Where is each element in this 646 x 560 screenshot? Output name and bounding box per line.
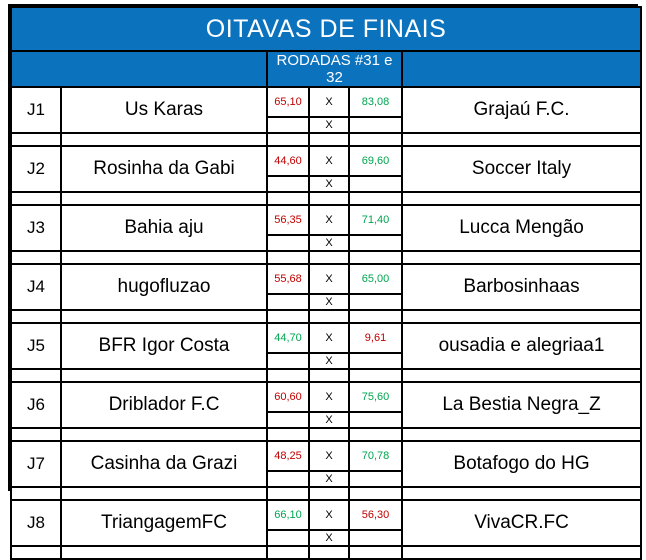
- home-score: 55,68: [267, 264, 309, 294]
- spacer-cell: [61, 428, 267, 441]
- home-score: 44,60: [267, 146, 309, 176]
- bracket-body: OITAVAS DE FINAIS RODADAS #31 e 32 J1Us …: [11, 7, 641, 559]
- spacer-cell: [11, 369, 61, 382]
- spacer-row: [11, 192, 641, 205]
- away-team-name: Grajaú F.C.: [402, 87, 641, 133]
- match-code: J1: [11, 87, 61, 133]
- versus-separator-second-leg: X: [309, 176, 349, 192]
- spacer-cell: [267, 251, 309, 264]
- away-score: 69,60: [349, 146, 402, 176]
- home-team-name: Bahia aju: [61, 205, 267, 251]
- home-score: 44,70: [267, 323, 309, 353]
- home-team-name: Casinha da Grazi: [61, 441, 267, 487]
- away-team-name: Botafogo do HG: [402, 441, 641, 487]
- spacer-cell: [309, 192, 349, 205]
- knockout-bracket-table: OITAVAS DE FINAIS RODADAS #31 e 32 J1Us …: [10, 6, 642, 560]
- spacer-row: [11, 133, 641, 146]
- match-row: J7Casinha da Grazi48,25X70,78Botafogo do…: [11, 441, 641, 471]
- spacer-cell: [11, 310, 61, 323]
- subheader-row: RODADAS #31 e 32: [11, 51, 641, 87]
- spacer-cell: [349, 310, 402, 323]
- home-score-second-leg: [267, 235, 309, 251]
- title-row: OITAVAS DE FINAIS: [11, 7, 641, 51]
- away-team-name: Barbosinhaas: [402, 264, 641, 310]
- match-row: J5BFR Igor Costa44,70X9,61ousadia e aleg…: [11, 323, 641, 353]
- spacer-cell: [11, 546, 61, 559]
- spacer-cell: [267, 487, 309, 500]
- away-score: 9,61: [349, 323, 402, 353]
- spacer-cell: [402, 251, 641, 264]
- match-code: J2: [11, 146, 61, 192]
- spacer-cell: [402, 310, 641, 323]
- home-score: 66,10: [267, 500, 309, 530]
- spacer-cell: [267, 369, 309, 382]
- away-score-second-leg: [349, 117, 402, 133]
- spacer-cell: [349, 369, 402, 382]
- versus-separator: X: [309, 264, 349, 294]
- spacer-cell: [309, 133, 349, 146]
- spacer-cell: [61, 546, 267, 559]
- versus-separator-second-leg: X: [309, 471, 349, 487]
- match-row: J3Bahia aju56,35X71,40Lucca Mengão: [11, 205, 641, 235]
- versus-separator-second-leg: X: [309, 117, 349, 133]
- home-score-second-leg: [267, 294, 309, 310]
- match-code: J6: [11, 382, 61, 428]
- home-team-name: BFR Igor Costa: [61, 323, 267, 369]
- round-label: RODADAS #31 e 32: [267, 51, 402, 87]
- spacer-cell: [11, 192, 61, 205]
- away-score-second-leg: [349, 235, 402, 251]
- spacer-cell: [309, 369, 349, 382]
- spacer-cell: [349, 251, 402, 264]
- versus-separator: X: [309, 323, 349, 353]
- match-row: J4hugofluzao55,68X65,00Barbosinhaas: [11, 264, 641, 294]
- spacer-cell: [267, 428, 309, 441]
- spacer-row: [11, 251, 641, 264]
- home-score: 56,35: [267, 205, 309, 235]
- home-team-name: Us Karas: [61, 87, 267, 133]
- away-team-name: Lucca Mengão: [402, 205, 641, 251]
- spacer-cell: [61, 369, 267, 382]
- versus-separator: X: [309, 500, 349, 530]
- away-score: 71,40: [349, 205, 402, 235]
- versus-separator-second-leg: X: [309, 235, 349, 251]
- home-team-name: Driblador F.C: [61, 382, 267, 428]
- spacer-cell: [349, 133, 402, 146]
- home-score-second-leg: [267, 176, 309, 192]
- home-team-name: hugofluzao: [61, 264, 267, 310]
- away-score: 75,60: [349, 382, 402, 412]
- away-team-name: Soccer Italy: [402, 146, 641, 192]
- home-score-second-leg: [267, 117, 309, 133]
- match-code: J4: [11, 264, 61, 310]
- match-code: J3: [11, 205, 61, 251]
- home-team-name: Rosinha da Gabi: [61, 146, 267, 192]
- subheader-right-blank: [402, 51, 641, 87]
- versus-separator-second-leg: X: [309, 412, 349, 428]
- spacer-row: [11, 487, 641, 500]
- match-row: J8TriangagemFC66,10X56,30VivaCR.FC: [11, 500, 641, 530]
- spacer-cell: [402, 487, 641, 500]
- spacer-cell: [349, 546, 402, 559]
- away-score: 65,00: [349, 264, 402, 294]
- home-score-second-leg: [267, 471, 309, 487]
- bracket-sheet: OITAVAS DE FINAIS RODADAS #31 e 32 J1Us …: [8, 4, 638, 491]
- away-score-second-leg: [349, 471, 402, 487]
- home-team-name: TriangagemFC: [61, 500, 267, 546]
- versus-separator-second-leg: X: [309, 353, 349, 369]
- spacer-cell: [11, 428, 61, 441]
- spacer-row: [11, 546, 641, 559]
- away-score: 56,30: [349, 500, 402, 530]
- versus-separator: X: [309, 146, 349, 176]
- home-score: 60,60: [267, 382, 309, 412]
- match-code: J7: [11, 441, 61, 487]
- home-score: 48,25: [267, 441, 309, 471]
- spacer-row: [11, 310, 641, 323]
- away-score-second-leg: [349, 176, 402, 192]
- spacer-cell: [11, 133, 61, 146]
- home-score-second-leg: [267, 353, 309, 369]
- match-code: J5: [11, 323, 61, 369]
- spacer-cell: [309, 310, 349, 323]
- spacer-cell: [402, 192, 641, 205]
- versus-separator: X: [309, 205, 349, 235]
- away-score-second-leg: [349, 294, 402, 310]
- away-score: 70,78: [349, 441, 402, 471]
- versus-separator-second-leg: X: [309, 294, 349, 310]
- spacer-cell: [267, 192, 309, 205]
- spacer-cell: [267, 310, 309, 323]
- spacer-cell: [267, 133, 309, 146]
- away-team-name: ousadia e alegriaa1: [402, 323, 641, 369]
- spacer-cell: [349, 487, 402, 500]
- match-row: J2Rosinha da Gabi44,60X69,60Soccer Italy: [11, 146, 641, 176]
- spacer-cell: [349, 428, 402, 441]
- versus-separator: X: [309, 87, 349, 117]
- home-score-second-leg: [267, 412, 309, 428]
- away-score-second-leg: [349, 530, 402, 546]
- spacer-cell: [61, 192, 267, 205]
- spacer-cell: [349, 192, 402, 205]
- spacer-cell: [61, 487, 267, 500]
- away-score-second-leg: [349, 353, 402, 369]
- away-team-name: VivaCR.FC: [402, 500, 641, 546]
- versus-separator: X: [309, 382, 349, 412]
- spacer-cell: [402, 133, 641, 146]
- versus-separator-second-leg: X: [309, 530, 349, 546]
- subheader-left-blank: [11, 51, 267, 87]
- match-row: J6Driblador F.C60,60X75,60La Bestia Negr…: [11, 382, 641, 412]
- spacer-cell: [11, 251, 61, 264]
- spacer-cell: [402, 369, 641, 382]
- spacer-row: [11, 369, 641, 382]
- home-score: 65,10: [267, 87, 309, 117]
- spacer-cell: [61, 251, 267, 264]
- away-team-name: La Bestia Negra_Z: [402, 382, 641, 428]
- spacer-cell: [309, 546, 349, 559]
- home-score-second-leg: [267, 530, 309, 546]
- spacer-row: [11, 428, 641, 441]
- spacer-cell: [61, 133, 267, 146]
- match-code: J8: [11, 500, 61, 546]
- spacer-cell: [11, 487, 61, 500]
- spacer-cell: [309, 487, 349, 500]
- spacer-cell: [309, 251, 349, 264]
- spacer-cell: [402, 546, 641, 559]
- match-row: J1Us Karas65,10X83,08Grajaú F.C.: [11, 87, 641, 117]
- page-title: OITAVAS DE FINAIS: [11, 7, 641, 51]
- spacer-cell: [309, 428, 349, 441]
- spacer-cell: [61, 310, 267, 323]
- away-score-second-leg: [349, 412, 402, 428]
- spacer-cell: [267, 546, 309, 559]
- versus-separator: X: [309, 441, 349, 471]
- spacer-cell: [402, 428, 641, 441]
- away-score: 83,08: [349, 87, 402, 117]
